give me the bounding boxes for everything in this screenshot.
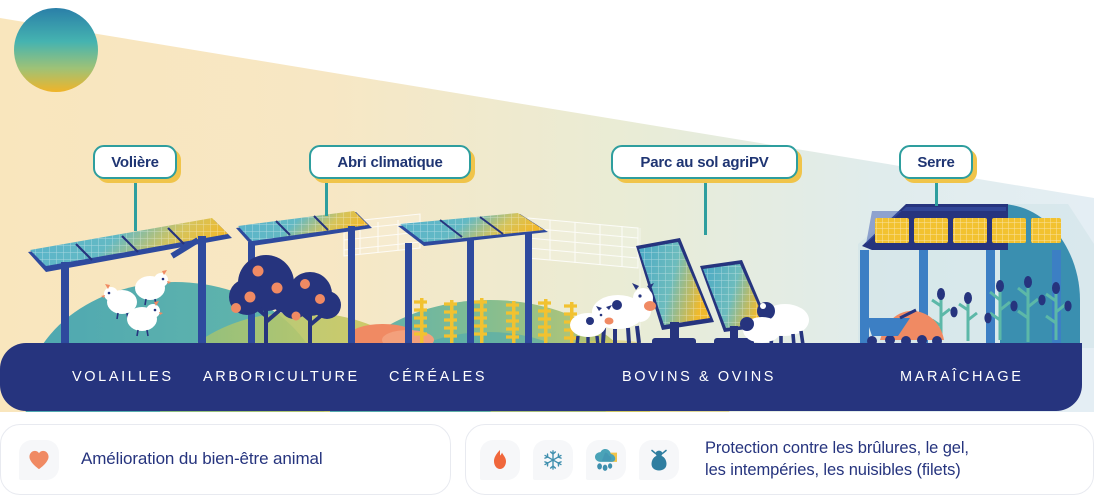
snowflake-icon [533, 440, 573, 480]
shelter-left-post-b [348, 226, 355, 348]
flame-icon [480, 440, 520, 480]
benefit-text-protection: Protection contre les brûlures, le gel, … [705, 438, 969, 482]
band-label-bovins-ovins: BOVINS & OVINS [622, 369, 776, 385]
sun-icon [6, 2, 126, 112]
callout-abri-climatique[interactable]: Abri climatique [309, 145, 471, 179]
poultry-post-right [198, 236, 206, 348]
shelter-right-post-b [467, 238, 474, 348]
band-label-maraichage: MARAÎCHAGE [900, 369, 1024, 385]
rain-cloud-icon [586, 440, 626, 480]
shelter-right-post-a [405, 243, 412, 348]
poultry-post-left [61, 262, 69, 348]
callout-voliere[interactable]: Volière [93, 145, 177, 179]
band-label-arboriculture: ARBORICULTURE [203, 369, 360, 385]
protection-line-2: les intempéries, les nuisibles (filets) [705, 461, 961, 479]
footer-benefits: Amélioration du bien-être animal [0, 424, 1094, 495]
callout-stem-serre [935, 179, 938, 206]
infographic-root: Volière Abri climatique Parc au sol agri… [0, 0, 1094, 495]
protection-icon-group [480, 440, 685, 480]
callout-serre[interactable]: Serre [899, 145, 973, 179]
benefit-card-protection: Protection contre les brûlures, le gel, … [465, 424, 1094, 495]
band-label-cereales: CÉRÉALES [389, 369, 487, 385]
category-band: VOLAILLES ARBORICULTURE CÉRÉALES BOVINS … [0, 343, 1082, 411]
heart-icon [19, 440, 59, 480]
benefit-text-animal-welfare: Amélioration du bien-être animal [81, 448, 323, 470]
greenhouse-panels [875, 218, 1061, 243]
section-greenhouse [858, 204, 1094, 348]
band-label-volailles: VOLAILLES [72, 369, 174, 385]
callout-stem-voliere [134, 179, 137, 231]
callout-stem-abri-climatique [325, 179, 328, 216]
shelter-right-post-c [525, 232, 532, 348]
benefit-card-animal-welfare: Amélioration du bien-être animal [0, 424, 451, 495]
protection-line-1: Protection contre les brûlures, le gel, [705, 439, 969, 457]
callout-parc-au-sol-agripv[interactable]: Parc au sol agriPV [611, 145, 798, 179]
callout-stem-parc-au-sol [704, 179, 707, 235]
bug-icon [639, 440, 679, 480]
